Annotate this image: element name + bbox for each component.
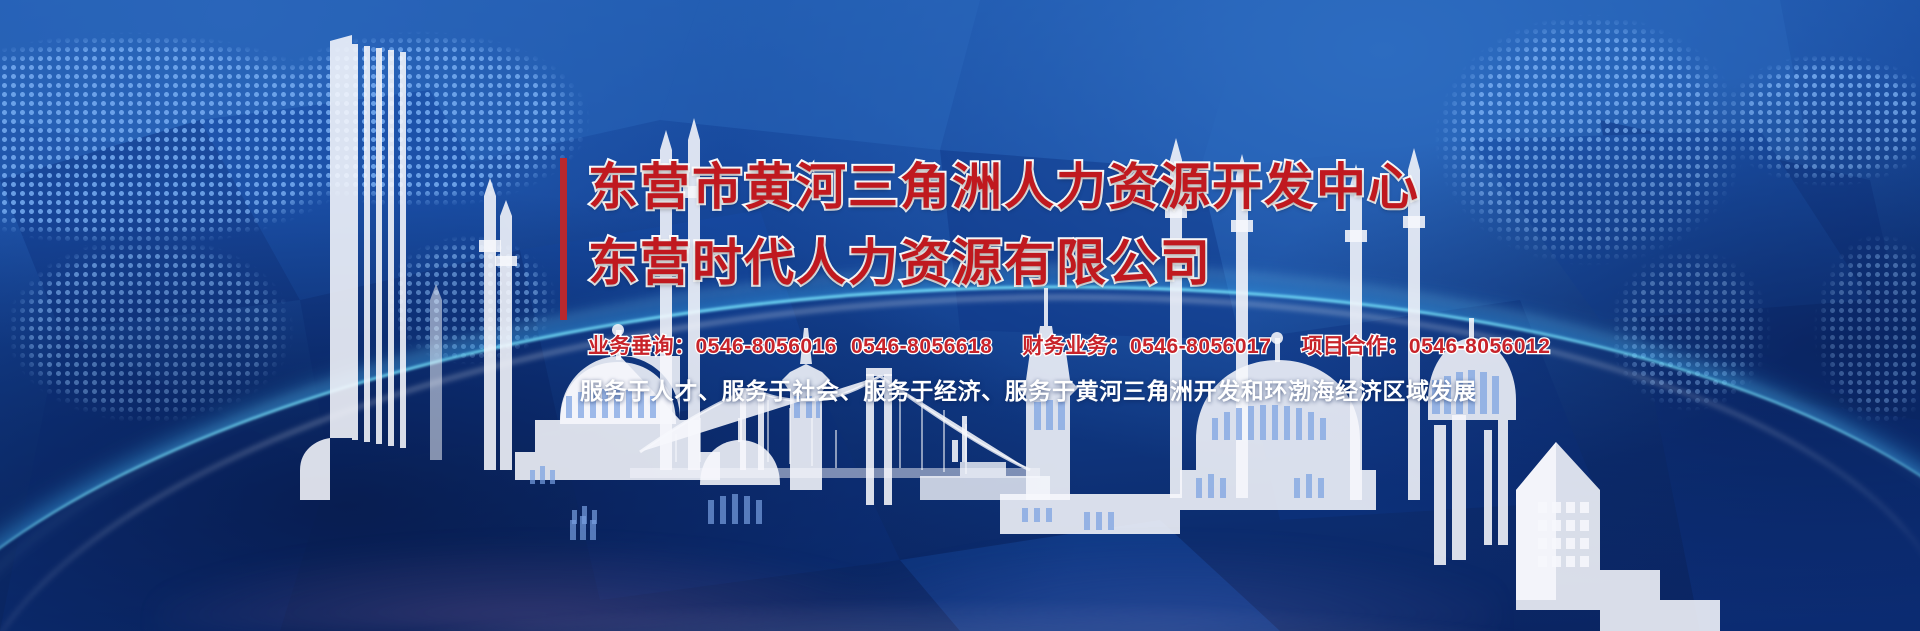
sales-phone-1[interactable]: 0546-8056016 <box>696 335 837 358</box>
promotional-banner: 东营市黄河三角洲人力资源开发中心 东营时代人力资源有限公司 业务垂询：0546-… <box>0 0 1920 631</box>
finance-phone[interactable]: 0546-8056017 <box>1130 335 1271 358</box>
project-phone[interactable]: 0546-8056012 <box>1409 335 1550 358</box>
banner-tagline: 服务于人才、服务于社会、服务于经济、服务于黄河三角洲开发和环渤海经济区域发展 <box>560 372 1560 406</box>
sales-label: 业务垂询： <box>588 335 696 358</box>
project-label: 项目合作： <box>1301 335 1409 358</box>
red-accent-bar <box>560 158 567 320</box>
page-title-line-2: 东营时代人力资源有限公司 <box>560 226 1560 300</box>
finance-label: 财务业务： <box>1022 335 1130 358</box>
banner-content: 东营市黄河三角洲人力资源开发中心 东营时代人力资源有限公司 业务垂询：0546-… <box>560 150 1560 406</box>
contact-phone-line: 业务垂询：0546-80560160546-8056618财务业务：0546-8… <box>560 330 1560 360</box>
page-title-line-1: 东营市黄河三角洲人力资源开发中心 <box>560 150 1560 224</box>
ground-color-tint <box>154 441 1498 631</box>
sales-phone-2[interactable]: 0546-8056618 <box>851 335 992 358</box>
